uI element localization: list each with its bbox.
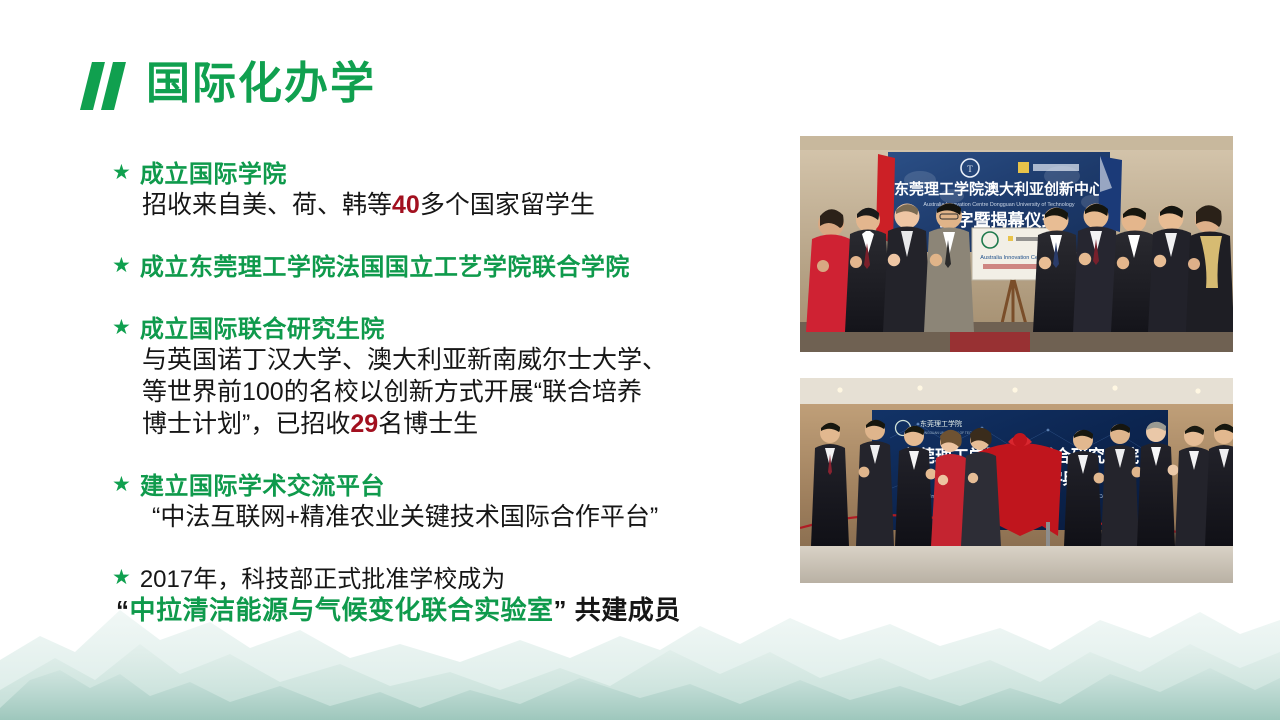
star-bullet-icon: ★: [112, 160, 131, 186]
bullet-heading-2: ★ 成立东莞理工学院法国国立工艺学院联合学院: [112, 253, 772, 282]
bullet-heading-3: ★ 成立国际联合研究生院: [112, 315, 772, 344]
subline-part-text: 博士计划”，已招收: [142, 410, 350, 438]
slide-title-row: 国际化办学: [86, 58, 376, 110]
star-bullet-icon: ★: [112, 315, 131, 341]
bullet-list: ★ 成立国际学院 招收来自美、荷、韩等40多个国家留学生 ★ 成立东莞理工学院法…: [112, 160, 772, 641]
page-title: 国际化办学: [146, 62, 376, 106]
bullet-heading-1: ★ 成立国际学院: [112, 160, 772, 189]
bullet-item-5: ★ 2017年，科技部正式批准学校成为 “中拉清洁能源与气候变化联合实验室” 共…: [112, 565, 772, 627]
bullet-heading-5: ★ 2017年，科技部正式批准学校成为: [112, 565, 772, 594]
bullet-heading-text-3: 成立国际联合研究生院: [140, 315, 385, 344]
subline-part-text: 名博士生: [378, 410, 478, 438]
svg-text:东莞理工学院: 东莞理工学院: [920, 419, 962, 428]
bullet-heading-4: ★ 建立国际学术交流平台: [112, 472, 772, 501]
star-bullet-icon: ★: [112, 565, 131, 591]
subline-part-text: 多个国家留学生: [420, 191, 595, 219]
subline-part-text: 招收来自美、荷、韩等: [142, 191, 392, 219]
photo-2-illustration: 东莞理工学院 DONGGUAN UNIVERSITY OF TECHNOLOGY…: [800, 378, 1233, 583]
final-line-green-text: 中拉清洁能源与气候变化联合实验室: [130, 595, 554, 625]
slide-canvas: 国际化办学 ★ 成立国际学院 招收来自美、荷、韩等40多个国家留学生 ★ 成立东…: [0, 0, 1280, 720]
highlight-number-29: 29: [350, 410, 378, 438]
bullet-item-2: ★ 成立东莞理工学院法国国立工艺学院联合学院: [112, 253, 772, 282]
bullet-heading-text-2: 成立东莞理工学院法国国立工艺学院联合学院: [140, 253, 630, 282]
bullet-heading-text-1: 成立国际学院: [140, 160, 287, 189]
close-quote: ”: [554, 595, 568, 625]
open-quote: “: [116, 595, 130, 625]
final-line-tail-text: 共建成员: [575, 595, 681, 625]
bullet-heading-text-4: 建立国际学术交流平台: [140, 472, 385, 501]
photo-australia-innovation-centre-ceremony: T 东莞理工学院澳大利亚创新中心 Australia Innovation Ce…: [800, 136, 1233, 352]
svg-text:T: T: [967, 164, 973, 174]
star-bullet-icon: ★: [112, 472, 131, 498]
bullet-subline-3-2: 等世界前100的名校以创新方式开展“联合培养: [142, 376, 772, 408]
bullet-subline-3-3: 博士计划”，已招收29名博士生: [142, 408, 772, 440]
final-emphasis-line: “中拉清洁能源与气候变化联合实验室” 共建成员: [116, 594, 772, 627]
bullet-subline-3-1: 与英国诺丁汉大学、澳大利亚新南威尔士大学、: [142, 344, 772, 376]
double-slash-icon: [86, 58, 128, 110]
bullet-item-3: ★ 成立国际联合研究生院 与英国诺丁汉大学、澳大利亚新南威尔士大学、 等世界前1…: [112, 315, 772, 440]
photo-international-joint-graduate-school-unveiling: 东莞理工学院 DONGGUAN UNIVERSITY OF TECHNOLOGY…: [800, 378, 1233, 583]
star-bullet-icon: ★: [112, 253, 131, 279]
bullet-heading-text-5: 2017年，科技部正式批准学校成为: [140, 565, 505, 594]
highlight-number-40: 40: [392, 191, 420, 219]
bullet-subline-4-1: “中法互联网+精准农业关键技术国际合作平台”: [152, 501, 772, 533]
bullet-item-4: ★ 建立国际学术交流平台 “中法互联网+精准农业关键技术国际合作平台”: [112, 472, 772, 533]
svg-text:东莞理工学院澳大利亚创新中心: 东莞理工学院澳大利亚创新中心: [894, 180, 1104, 198]
photo-1-illustration: T 东莞理工学院澳大利亚创新中心 Australia Innovation Ce…: [800, 136, 1233, 352]
bullet-subline-1-1: 招收来自美、荷、韩等40多个国家留学生: [142, 189, 772, 221]
bullet-item-1: ★ 成立国际学院 招收来自美、荷、韩等40多个国家留学生: [112, 160, 772, 221]
